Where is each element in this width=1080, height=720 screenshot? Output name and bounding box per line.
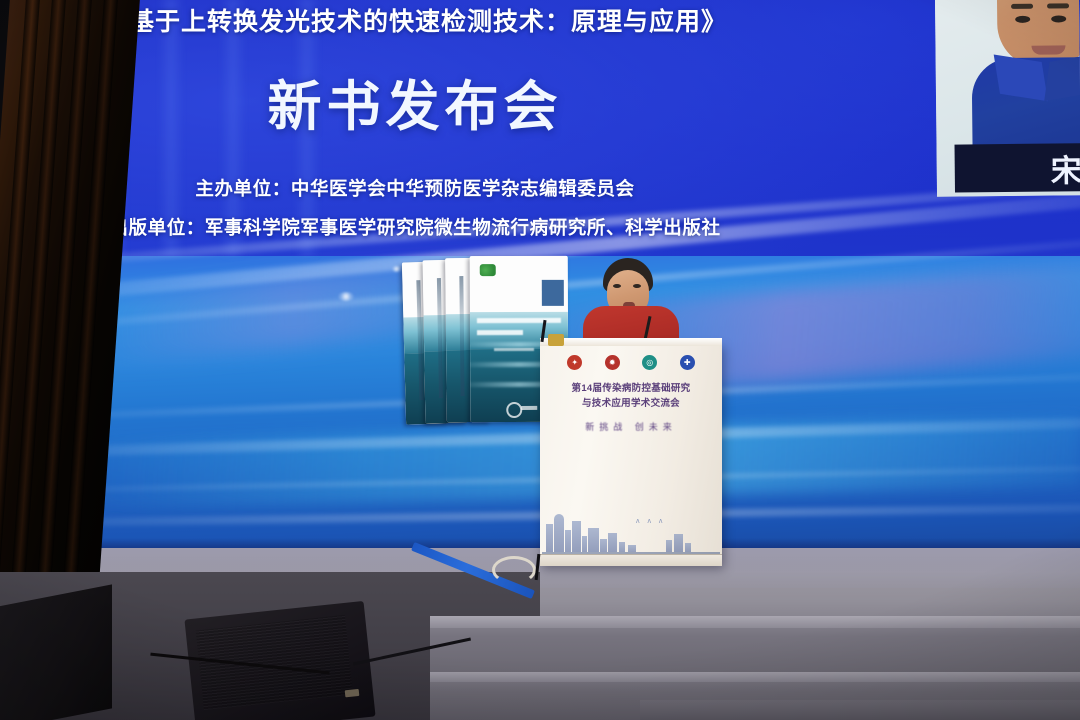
press-logo-ring bbox=[506, 402, 522, 418]
presenter-eye bbox=[633, 284, 641, 288]
stage-step bbox=[640, 700, 1080, 720]
lens-flare-dot bbox=[338, 292, 354, 301]
book-cover-title-line bbox=[477, 318, 561, 323]
portrait-mouth bbox=[1031, 45, 1065, 54]
logo-red-emblem: ✦ bbox=[567, 355, 582, 370]
lectern-slogan: 新挑战 创未来 bbox=[554, 420, 708, 433]
stage-step bbox=[430, 616, 1080, 676]
speaker-portrait-panel: 宋亚 bbox=[935, 0, 1080, 197]
book-cover-author-line bbox=[494, 348, 534, 351]
press-logo-text bbox=[521, 406, 537, 410]
lectern-event-title-line-1: 第14届传染病防控基础研究 bbox=[554, 382, 708, 397]
logo-blue-shield: ✚ bbox=[680, 355, 695, 370]
skyline-building bbox=[565, 530, 571, 554]
skyline-building bbox=[608, 533, 617, 554]
portrait-name-band: 宋亚 bbox=[955, 143, 1080, 193]
portrait-name-label: 宋亚 bbox=[1051, 144, 1080, 190]
presenter-eye bbox=[613, 284, 621, 288]
monitor-badge bbox=[345, 689, 360, 697]
green-leaf-logo-icon bbox=[480, 264, 496, 276]
lectern-event-title-line-2: 与技术应用学术交流会 bbox=[554, 397, 708, 412]
lectern-panel: ✦ ✹ ◎ ✚ 第14届传染病防控基础研究 与技术应用学术交流会 新挑战 创未来… bbox=[540, 344, 722, 566]
conference-stage-photo: 《基于上转换发光技术的快速检测技术：原理与应用》 新书发布会 主办单位：中华医学… bbox=[0, 0, 1080, 720]
logo-teal-ring: ◎ bbox=[642, 355, 657, 370]
skyline-building bbox=[546, 524, 553, 554]
stage-step-tread bbox=[430, 672, 1080, 682]
lectern-mic-base bbox=[548, 334, 564, 346]
portrait-eyebrow bbox=[1011, 4, 1033, 9]
city-skyline-icon bbox=[540, 504, 722, 554]
science-press-logo-icon bbox=[506, 402, 536, 414]
skyline-building bbox=[554, 514, 564, 554]
portrait-eyebrow bbox=[1047, 3, 1069, 8]
stage-monitor-icon bbox=[0, 584, 112, 720]
cable-icon bbox=[492, 556, 536, 584]
skyline-building bbox=[588, 528, 599, 554]
lectern-event-title: 第14届传染病防控基础研究 与技术应用学术交流会 bbox=[554, 382, 708, 411]
book-cover-title-line bbox=[477, 330, 523, 335]
book-cover-badge bbox=[542, 280, 564, 306]
skyline-building bbox=[674, 534, 683, 554]
lectern-top-edge bbox=[540, 338, 722, 346]
lens-flare-dot bbox=[392, 266, 401, 272]
logo-red-seal: ✹ bbox=[605, 355, 620, 370]
skyline-building bbox=[572, 521, 581, 554]
lectern-base-strip bbox=[540, 554, 722, 566]
stage-step-tread bbox=[430, 616, 1080, 628]
lectern-logo-row: ✦ ✹ ◎ ✚ bbox=[556, 355, 706, 370]
